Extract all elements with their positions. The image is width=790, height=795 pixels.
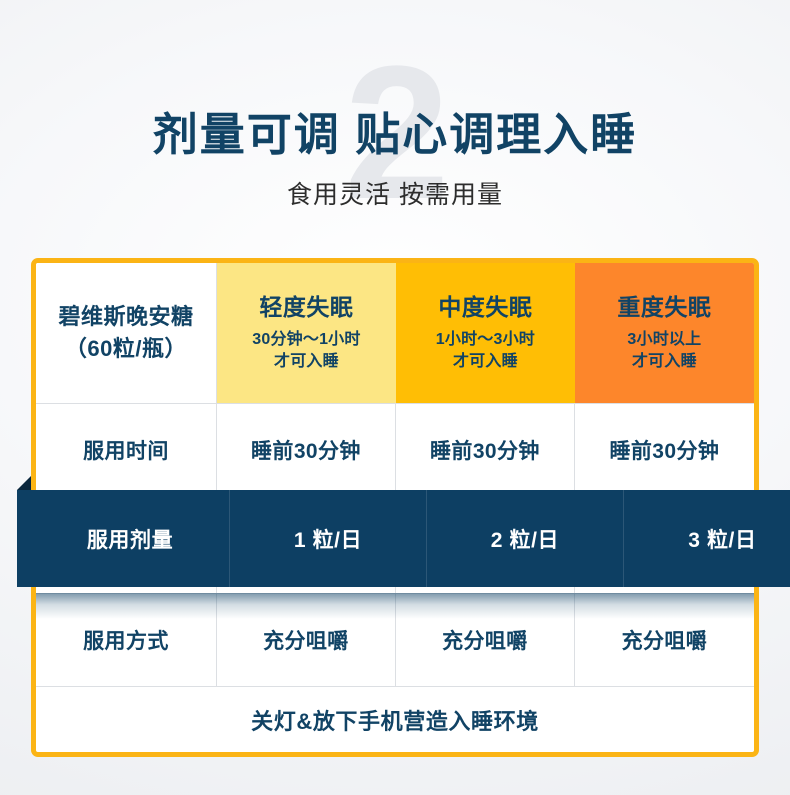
severe-subtitle-line2: 才可入睡 (632, 351, 697, 373)
cell-method-moderate: 充分咀嚼 (396, 594, 575, 686)
row-label-method: 服用方式 (36, 594, 217, 686)
table-header-cell-severe: 重度失眠 3小时以上 才可入睡 (575, 263, 754, 403)
row-label-time: 服用时间 (36, 404, 217, 496)
product-spec: （60粒/瓶） (65, 333, 187, 365)
cell-time-mild: 睡前30分钟 (217, 404, 396, 496)
dosage-highlight-ribbon: 服用剂量 1 粒/日 2 粒/日 3 粒/日 (17, 490, 790, 587)
cell-dose-mild: 1 粒/日 (230, 490, 427, 587)
row-label-dose: 服用剂量 (31, 490, 230, 587)
moderate-subtitle-line2: 才可入睡 (453, 351, 518, 373)
table-header-cell-product: 碧维斯晚安糖 （60粒/瓶） (36, 263, 217, 403)
footer-note: 关灯&放下手机营造入睡环境 (36, 687, 754, 752)
cell-time-severe: 睡前30分钟 (575, 404, 754, 496)
cell-time-moderate: 睡前30分钟 (396, 404, 575, 496)
table-footer-row: 关灯&放下手机营造入睡环境 (36, 686, 754, 752)
ribbon-fold-left-icon (17, 476, 31, 490)
table-header-cell-moderate: 中度失眠 1小时～3小时 才可入睡 (396, 263, 575, 403)
product-name: 碧维斯晚安糖 (58, 301, 193, 333)
table-header-cell-mild: 轻度失眠 30分钟～1小时 才可入睡 (217, 263, 396, 403)
ribbon-body: 服用剂量 1 粒/日 2 粒/日 3 粒/日 (31, 490, 790, 587)
moderate-subtitle-line1: 1小时～3小时 (436, 329, 535, 351)
ribbon-tail-left (17, 490, 31, 587)
cell-dose-severe: 3 粒/日 (624, 490, 790, 587)
page-header: 2 剂量可调 贴心调理入睡 食用灵活 按需用量 (0, 0, 790, 211)
table-row: 服用方式 充分咀嚼 充分咀嚼 充分咀嚼 (36, 593, 754, 686)
moderate-title: 中度失眠 (438, 293, 532, 322)
mild-subtitle-line1: 30分钟～1小时 (252, 329, 360, 351)
dosage-table-wrapper: 碧维斯晚安糖 （60粒/瓶） 轻度失眠 30分钟～1小时 才可入睡 中度失眠 1… (31, 258, 759, 757)
cell-method-mild: 充分咀嚼 (217, 594, 396, 686)
cell-method-severe: 充分咀嚼 (575, 594, 754, 686)
severe-subtitle-line1: 3小时以上 (627, 329, 701, 351)
page-title: 剂量可调 贴心调理入睡 (0, 52, 790, 161)
table-header-row: 碧维斯晚安糖 （60粒/瓶） 轻度失眠 30分钟～1小时 才可入睡 中度失眠 1… (36, 263, 754, 403)
severe-title: 重度失眠 (617, 293, 711, 322)
table-row: 服用时间 睡前30分钟 睡前30分钟 睡前30分钟 (36, 403, 754, 496)
page-subtitle: 食用灵活 按需用量 (0, 175, 790, 211)
mild-title: 轻度失眠 (259, 293, 353, 322)
cell-dose-moderate: 2 粒/日 (427, 490, 624, 587)
mild-subtitle-line2: 才可入睡 (274, 351, 339, 373)
